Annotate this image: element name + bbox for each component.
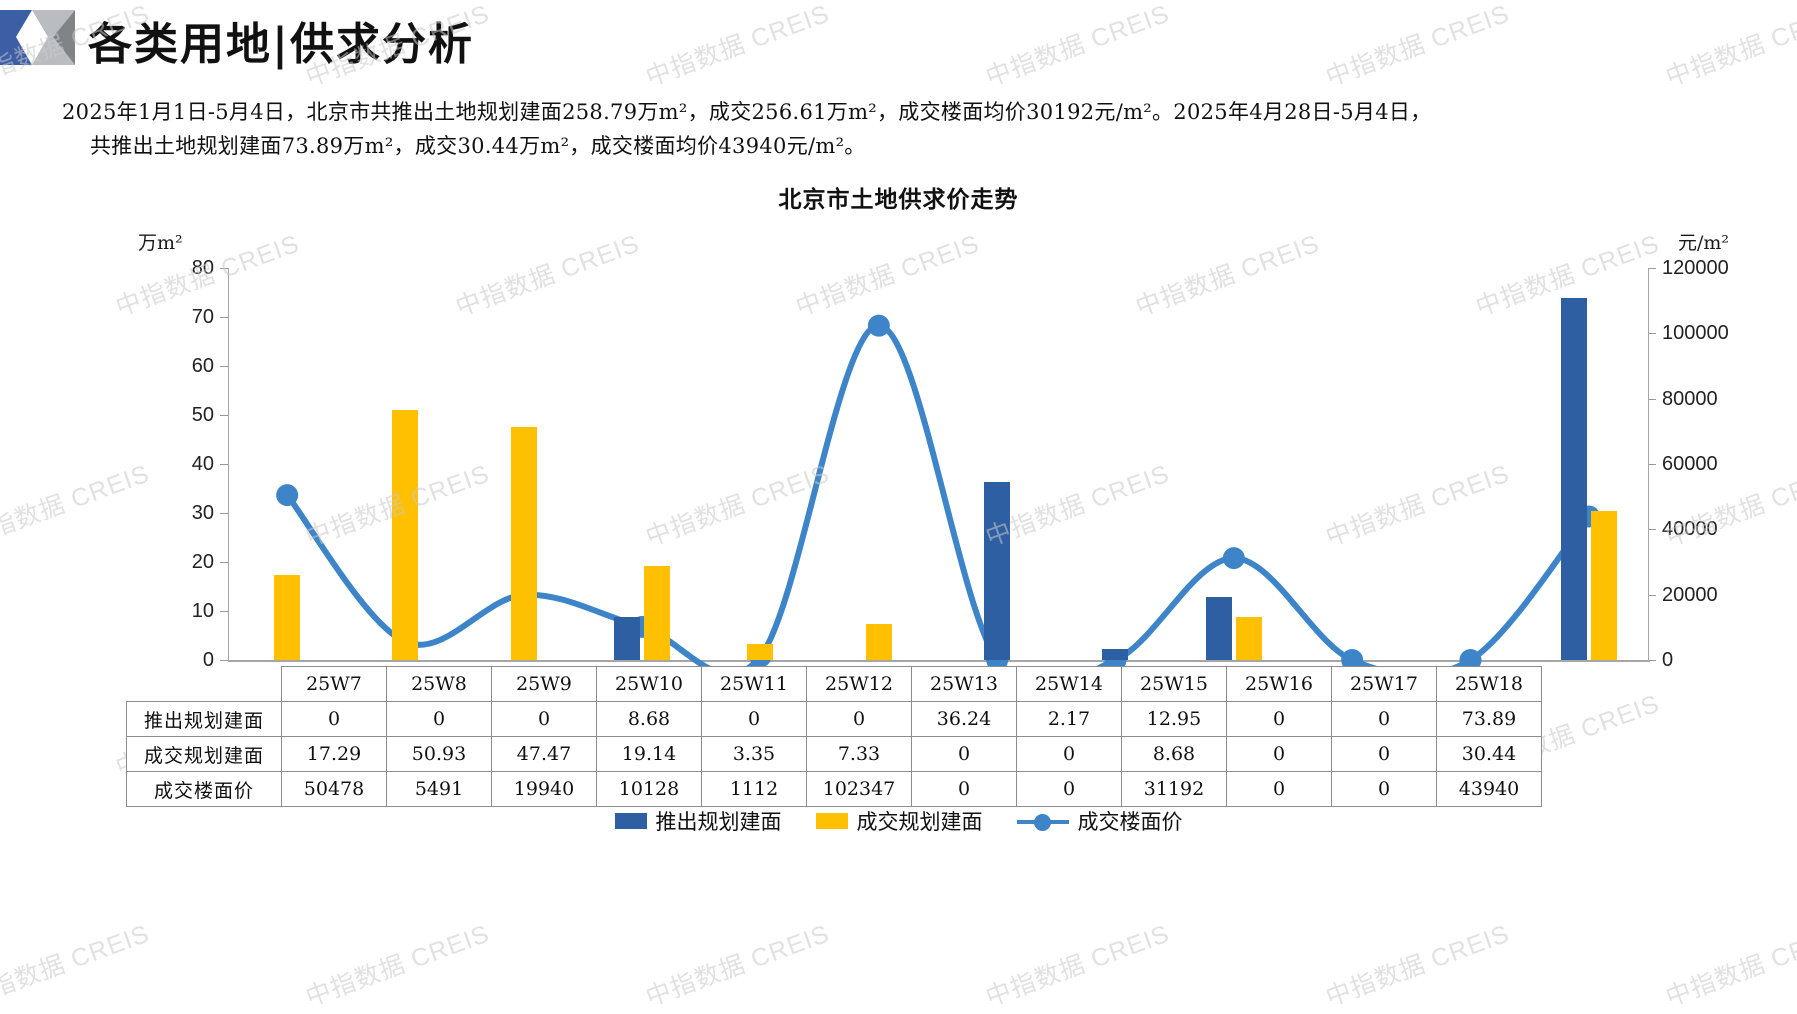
y-axis-left-tick-mark xyxy=(220,660,228,661)
table-cell: 30.44 xyxy=(1437,737,1542,772)
data-table: 25W725W825W925W1025W1125W1225W1325W1425W… xyxy=(126,666,1542,807)
y-axis-right-tick-mark xyxy=(1648,595,1656,596)
table-category-header: 25W9 xyxy=(492,667,597,702)
table-category-header: 25W7 xyxy=(282,667,387,702)
legend-item[interactable]: 成交楼面价 xyxy=(1017,806,1183,836)
table-cell: 19.14 xyxy=(597,737,702,772)
y-axis-left-tick-label: 50 xyxy=(154,404,214,427)
watermark-text: 中指数据 CREIS xyxy=(1660,914,1797,1014)
chart-column xyxy=(938,268,1056,660)
legend-line-icon xyxy=(1017,813,1069,829)
bar-supply xyxy=(1102,649,1128,660)
table-corner-cell xyxy=(127,667,282,702)
summary-line-2: 共推出土地规划建面73.89万m²，成交30.44万m²，成交楼面均价43940… xyxy=(62,129,1762,163)
table-category-header: 25W15 xyxy=(1122,667,1227,702)
table-cell: 2.17 xyxy=(1017,702,1122,737)
table-cell: 0 xyxy=(1332,737,1437,772)
table-cell: 50478 xyxy=(282,772,387,807)
chart-column xyxy=(1175,268,1293,660)
y-axis-left-tick-mark xyxy=(220,415,228,416)
table-row-header: 成交规划建面 xyxy=(127,737,282,772)
table-cell: 1112 xyxy=(702,772,807,807)
table-cell: 0 xyxy=(912,737,1017,772)
y-axis-right-unit: 元/m² xyxy=(1678,228,1729,255)
table-header-row: 25W725W825W925W1025W1125W1225W1325W1425W… xyxy=(127,667,1542,702)
watermark-text: 中指数据 CREIS xyxy=(980,914,1174,1014)
table-cell: 0 xyxy=(282,702,387,737)
watermark-text: 中指数据 CREIS xyxy=(0,914,154,1014)
y-axis-right-line xyxy=(1648,268,1649,661)
table-cell: 102347 xyxy=(807,772,912,807)
table-cell: 0 xyxy=(807,702,912,737)
chart-column xyxy=(1056,268,1174,660)
y-axis-right-tick-label: 40000 xyxy=(1662,518,1772,541)
y-axis-left-tick-mark xyxy=(220,611,228,612)
plot-area xyxy=(228,268,1648,660)
table-cell: 10128 xyxy=(597,772,702,807)
table-category-header: 25W13 xyxy=(912,667,1017,702)
chart-column xyxy=(1411,268,1529,660)
y-axis-left-tick-mark xyxy=(220,317,228,318)
summary-paragraph: 2025年1月1日-5月4日，北京市共推出土地规划建面258.79万m²，成交2… xyxy=(62,95,1762,163)
table-cell: 0 xyxy=(492,702,597,737)
table-row: 成交楼面价50478549119940101281112102347003119… xyxy=(127,772,1542,807)
y-axis-left-tick-mark xyxy=(220,366,228,367)
table-cell: 0 xyxy=(912,772,1017,807)
brand-logo-icon xyxy=(0,10,75,65)
chart-column xyxy=(583,268,701,660)
table-cell: 8.68 xyxy=(1122,737,1227,772)
table-cell: 3.35 xyxy=(702,737,807,772)
table-cell: 17.29 xyxy=(282,737,387,772)
table-category-header: 25W8 xyxy=(387,667,492,702)
table-category-header: 25W17 xyxy=(1332,667,1437,702)
table-cell: 7.33 xyxy=(807,737,912,772)
bar-deal xyxy=(392,410,418,660)
table-category-header: 25W16 xyxy=(1227,667,1332,702)
table-cell: 0 xyxy=(1017,772,1122,807)
table-row-header: 成交楼面价 xyxy=(127,772,282,807)
page-header: 各类用地|供求分析 xyxy=(0,0,1797,80)
y-axis-left-tick-mark xyxy=(220,562,228,563)
summary-line-1: 2025年1月1日-5月4日，北京市共推出土地规划建面258.79万m²，成交2… xyxy=(62,100,1431,124)
y-axis-left-tick-label: 10 xyxy=(154,600,214,623)
table-row-header: 推出规划建面 xyxy=(127,702,282,737)
y-axis-right-tick-mark xyxy=(1648,268,1656,269)
y-axis-left-tick-label: 60 xyxy=(154,355,214,378)
table-cell: 0 xyxy=(702,702,807,737)
y-axis-right-tick-label: 60000 xyxy=(1662,453,1772,476)
table-cell: 12.95 xyxy=(1122,702,1227,737)
bar-supply xyxy=(984,482,1010,660)
table-cell: 0 xyxy=(1227,737,1332,772)
chart-column xyxy=(465,268,583,660)
y-axis-right-tick-mark xyxy=(1648,333,1656,334)
chart-column xyxy=(1530,268,1648,660)
watermark-text: 中指数据 CREIS xyxy=(640,914,834,1014)
y-axis-left-tick-label: 80 xyxy=(154,257,214,280)
bar-supply xyxy=(1561,298,1587,660)
table-cell: 36.24 xyxy=(912,702,1017,737)
y-axis-left-unit: 万m² xyxy=(138,228,183,255)
table-category-header: 25W12 xyxy=(807,667,912,702)
y-axis-right-tick-mark xyxy=(1648,399,1656,400)
y-axis-right-tick-label: 20000 xyxy=(1662,584,1772,607)
legend-label: 成交规划建面 xyxy=(857,806,983,836)
table-cell: 0 xyxy=(387,702,492,737)
y-axis-right-tick-label: 120000 xyxy=(1662,257,1772,280)
chart-column xyxy=(820,268,938,660)
table-category-header: 25W14 xyxy=(1017,667,1122,702)
legend-item[interactable]: 推出规划建面 xyxy=(615,806,782,836)
y-axis-left-tick-label: 70 xyxy=(154,306,214,329)
y-axis-left-tick-label: 20 xyxy=(154,551,214,574)
table-cell: 0 xyxy=(1017,737,1122,772)
chart-legend: 推出规划建面成交规划建面成交楼面价 xyxy=(0,806,1797,836)
y-axis-right-tick-label: 80000 xyxy=(1662,388,1772,411)
x-axis-line xyxy=(228,660,1650,662)
table-cell: 8.68 xyxy=(597,702,702,737)
y-axis-right-tick-label: 0 xyxy=(1662,649,1772,672)
table-cell: 0 xyxy=(1332,702,1437,737)
y-axis-right-tick-mark xyxy=(1648,529,1656,530)
chart-column xyxy=(701,268,819,660)
table-cell: 31192 xyxy=(1122,772,1227,807)
y-axis-left-tick-mark xyxy=(220,268,228,269)
table-category-header: 25W18 xyxy=(1437,667,1542,702)
legend-item[interactable]: 成交规划建面 xyxy=(816,806,983,836)
y-axis-left-tick-mark xyxy=(220,513,228,514)
watermark-text: 中指数据 CREIS xyxy=(300,914,494,1014)
bar-deal xyxy=(1591,511,1617,660)
table-cell: 47.47 xyxy=(492,737,597,772)
bar-deal xyxy=(511,427,537,660)
legend-swatch-icon xyxy=(615,813,647,829)
bar-deal xyxy=(747,644,773,660)
bar-deal xyxy=(866,624,892,660)
table-row: 成交规划建面17.2950.9347.4719.143.357.33008.68… xyxy=(127,737,1542,772)
bar-deal xyxy=(644,566,670,660)
legend-swatch-icon xyxy=(816,813,848,829)
chart-title: 北京市土地供求价走势 xyxy=(0,180,1797,214)
legend-label: 成交楼面价 xyxy=(1078,806,1183,836)
watermark-text: 中指数据 CREIS xyxy=(1320,914,1514,1014)
chart-column xyxy=(346,268,464,660)
y-axis-left-tick-mark xyxy=(220,464,228,465)
table-cell: 19940 xyxy=(492,772,597,807)
y-axis-left-tick-label: 40 xyxy=(154,453,214,476)
table-category-header: 25W10 xyxy=(597,667,702,702)
table-cell: 73.89 xyxy=(1437,702,1542,737)
table-category-header: 25W11 xyxy=(702,667,807,702)
table-cell: 50.93 xyxy=(387,737,492,772)
chart-plot-wrapper: 01020304050607080 0200004000060000800001… xyxy=(0,255,1797,675)
table-row: 推出规划建面0008.680036.242.1712.950073.89 xyxy=(127,702,1542,737)
legend-label: 推出规划建面 xyxy=(656,806,782,836)
table-cell: 0 xyxy=(1227,702,1332,737)
y-axis-right-tick-mark xyxy=(1648,464,1656,465)
bar-supply xyxy=(614,617,640,660)
y-axis-left-tick-label: 30 xyxy=(154,502,214,525)
chart-column xyxy=(228,268,346,660)
table-cell: 0 xyxy=(1227,772,1332,807)
bar-deal xyxy=(274,575,300,660)
table-cell: 5491 xyxy=(387,772,492,807)
chart-column xyxy=(1293,268,1411,660)
table-cell: 0 xyxy=(1332,772,1437,807)
bar-supply xyxy=(1206,597,1232,660)
table-cell: 43940 xyxy=(1437,772,1542,807)
page-title: 各类用地|供求分析 xyxy=(88,8,474,72)
y-axis-right-tick-label: 100000 xyxy=(1662,322,1772,345)
bar-deal xyxy=(1236,617,1262,660)
